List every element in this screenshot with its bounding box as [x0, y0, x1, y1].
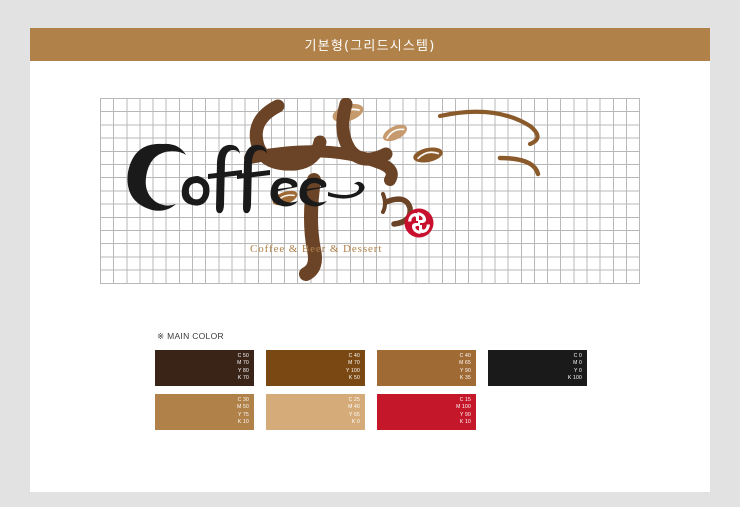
hangul-stroke-stem — [306, 180, 315, 274]
color-swatch[interactable]: C 40 M 70 Y 100 K 50 — [266, 350, 365, 386]
page-header-bar: 기본형(그리드시스템) — [30, 28, 710, 61]
swatch-y: Y 65 — [348, 412, 360, 419]
color-swatch[interactable]: C 30 M 50 Y 75 K 10 — [155, 394, 254, 430]
swatch-m: M 65 — [459, 360, 471, 367]
swatch-cmyk-values: C 30 M 50 Y 75 K 10 — [237, 397, 249, 426]
swatch-m: M 0 — [568, 360, 582, 367]
swatch-c: C 40 — [459, 353, 471, 360]
presentation-sheet: 기본형(그리드시스템) — [30, 28, 710, 492]
swatch-m: M 70 — [237, 360, 249, 367]
swatch-c: C 40 — [346, 353, 360, 360]
swatch-c: C 15 — [456, 397, 471, 404]
swatch-k: K 35 — [459, 375, 471, 382]
main-color-heading: ※ MAIN COLOR — [157, 331, 224, 342]
cup-handle-tick — [383, 194, 385, 212]
swatch-m: M 70 — [346, 360, 360, 367]
swatch-y: Y 0 — [568, 368, 582, 375]
swatch-k: K 10 — [456, 419, 471, 426]
main-color-swatch-grid: C 50 M 70 Y 80 K 70 C 40 M 70 Y 100 K 50… — [155, 350, 595, 430]
swatch-c: C 25 — [348, 397, 360, 404]
swatch-k: K 0 — [348, 419, 360, 426]
swatch-y: Y 80 — [237, 368, 249, 375]
color-swatch[interactable]: C 25 M 40 Y 65 K 0 — [266, 394, 365, 430]
swatch-m: M 100 — [456, 404, 471, 411]
brand-emblem-icon — [405, 209, 434, 238]
color-swatch[interactable]: C 0 M 0 Y 0 K 100 — [488, 350, 587, 386]
color-swatch[interactable]: C 40 M 65 Y 90 K 35 — [377, 350, 476, 386]
swatch-y: Y 90 — [456, 412, 471, 419]
coffee-bean-icon-3 — [412, 145, 444, 165]
swatch-c: C 30 — [237, 397, 249, 404]
swatch-c: C 50 — [237, 353, 249, 360]
cup-brush-mark — [440, 112, 538, 174]
hangul-stroke-right — [343, 104, 386, 159]
swatch-k: K 100 — [568, 375, 582, 382]
swatch-cmyk-values: C 25 M 40 Y 65 K 0 — [348, 397, 360, 426]
swatch-m: M 40 — [348, 404, 360, 411]
swatch-y: Y 100 — [346, 368, 360, 375]
logo-stage: Coffee & Beer & Dessert — [100, 98, 639, 283]
page-title: 기본형(그리드시스템) — [305, 35, 436, 54]
swatch-y: Y 90 — [459, 368, 471, 375]
swatch-m: M 50 — [237, 404, 249, 411]
logo-grid-artboard: Coffee & Beer & Dessert — [100, 98, 640, 284]
swatch-y: Y 75 — [237, 412, 249, 419]
swatch-k: K 10 — [237, 419, 249, 426]
swatch-cmyk-values: C 50 M 70 Y 80 K 70 — [237, 353, 249, 382]
brand-logo: Coffee & Beer & Dessert — [100, 98, 639, 283]
swatch-cmyk-values: C 40 M 65 Y 90 K 35 — [459, 353, 471, 382]
swatch-k: K 50 — [346, 375, 360, 382]
swatch-cmyk-values: C 15 M 100 Y 90 K 10 — [456, 397, 471, 426]
swatch-cmyk-values: C 40 M 70 Y 100 K 50 — [346, 353, 360, 382]
color-swatch[interactable]: C 15 M 100 Y 90 K 10 — [377, 394, 476, 430]
coffee-bean-icon-2 — [380, 121, 409, 144]
swatch-cmyk-values: C 0 M 0 Y 0 K 100 — [568, 353, 582, 382]
logo-tagline: Coffee & Beer & Dessert — [250, 243, 382, 255]
swatch-c: C 0 — [568, 353, 582, 360]
swatch-k: K 70 — [237, 375, 249, 382]
color-swatch[interactable]: C 50 M 70 Y 80 K 70 — [155, 350, 254, 386]
